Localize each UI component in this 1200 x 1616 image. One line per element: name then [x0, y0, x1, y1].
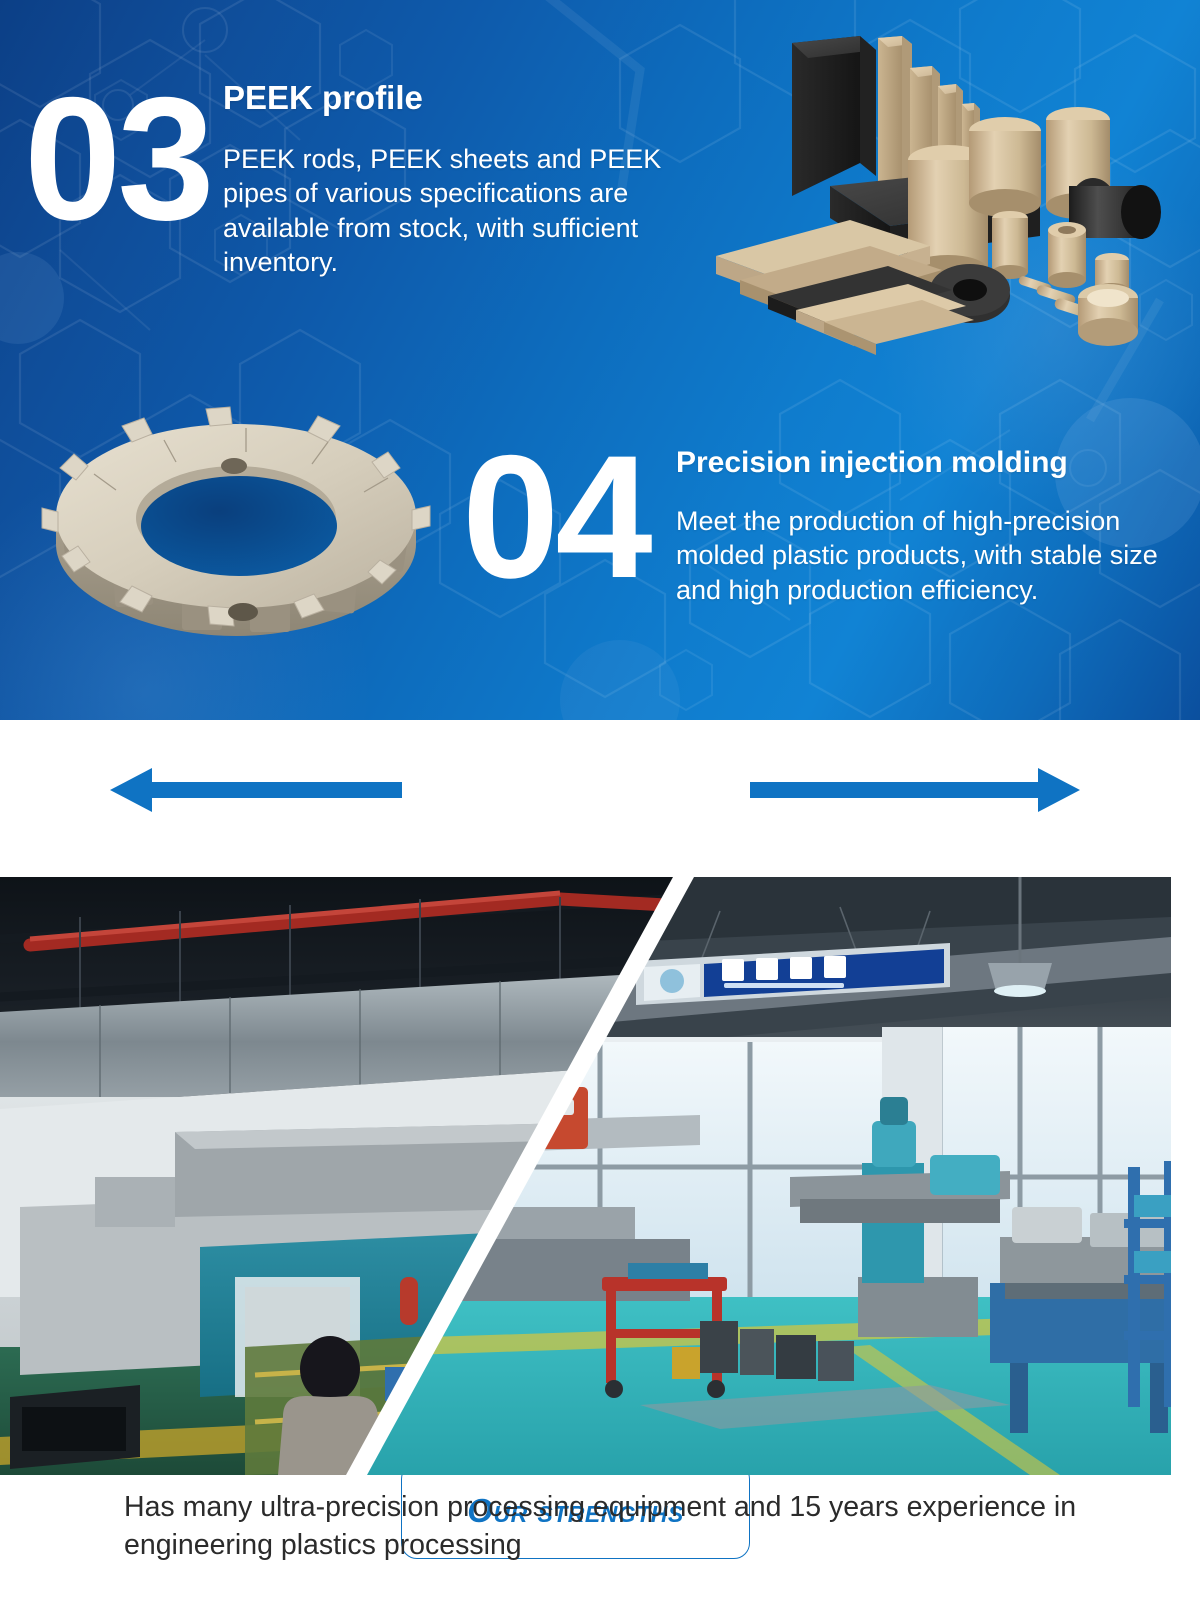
feature-number-04: 04: [462, 430, 649, 605]
arrow-right-icon: [750, 768, 1080, 812]
feature-body-03: PEEK rods, PEEK sheets and PEEK pipes of…: [223, 142, 663, 279]
feature-title-03: PEEK profile: [223, 80, 423, 116]
our-strengths-banner: Our strengths: [0, 720, 1200, 877]
double-arrow-divider: [0, 720, 1200, 877]
hero-blue-panel: 03 PEEK profile PEEK rods, PEEK sheets a…: [0, 0, 1200, 720]
bottom-caption: Has many ultra-precision processing equi…: [124, 1488, 1134, 1565]
workshop-photo-strip: [0, 877, 1171, 1475]
product-feature-page: 03 PEEK profile PEEK rods, PEEK sheets a…: [0, 0, 1200, 1616]
peek-gear-ring-photo: [36, 404, 436, 674]
feature-number-03: 03: [24, 72, 211, 247]
feature-body-04: Meet the production of high-precision mo…: [676, 504, 1196, 607]
arrow-left-icon: [110, 768, 402, 812]
feature-title-04: Precision injection molding: [676, 446, 1068, 479]
peek-rods-sheets-pipes-photo: [680, 8, 1180, 368]
